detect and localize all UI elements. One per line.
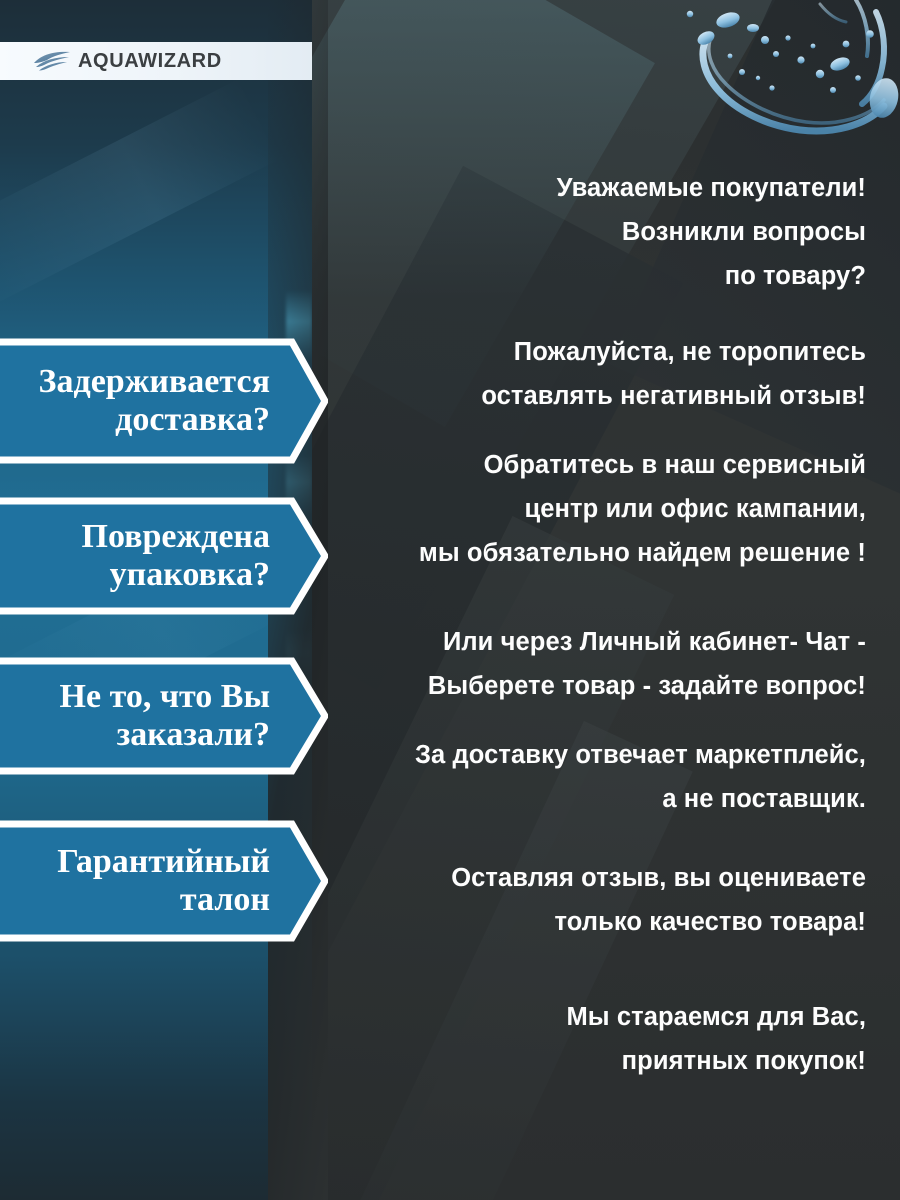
- light-streak: [0, 78, 282, 313]
- banner-warranty-card[interactable]: Гарантийный талон: [0, 820, 328, 942]
- brand-logo: AQUAWIZARD: [0, 42, 312, 80]
- message-paragraph: Пожалуйста, не торопитесь оставлять нега…: [330, 330, 866, 418]
- message-column: Уважаемые покупатели! Возникли вопросы п…: [330, 0, 882, 1200]
- banner-label: Не то, что Вы заказали?: [0, 678, 288, 754]
- banner-wrong-item[interactable]: Не то, что Вы заказали?: [0, 657, 328, 775]
- message-paragraph: Оставляя отзыв, вы оцениваете только кач…: [330, 856, 866, 944]
- banner-label: Гарантийный талон: [0, 843, 288, 919]
- message-paragraph: Мы стараемся для Вас, приятных покупок!: [330, 995, 866, 1083]
- promo-canvas: AQUAWIZARD Задерживается доставка? Повре…: [0, 0, 900, 1200]
- brand-name: AQUAWIZARD: [78, 50, 222, 73]
- banner-damaged-packaging[interactable]: Повреждена упаковка?: [0, 497, 328, 615]
- message-paragraph: Уважаемые покупатели! Возникли вопросы п…: [330, 166, 866, 298]
- message-paragraph: За доставку отвечает маркетплейс, а не п…: [330, 733, 866, 821]
- banner-delivery-delayed[interactable]: Задерживается доставка?: [0, 338, 328, 464]
- wave-icon: [33, 50, 71, 72]
- message-paragraph: Обратитесь в наш сервисный центр или офи…: [330, 443, 866, 575]
- message-paragraph: Или через Личный кабинет- Чат - Выберете…: [330, 620, 866, 708]
- banner-label: Повреждена упаковка?: [0, 518, 288, 594]
- banner-label: Задерживается доставка?: [0, 363, 288, 439]
